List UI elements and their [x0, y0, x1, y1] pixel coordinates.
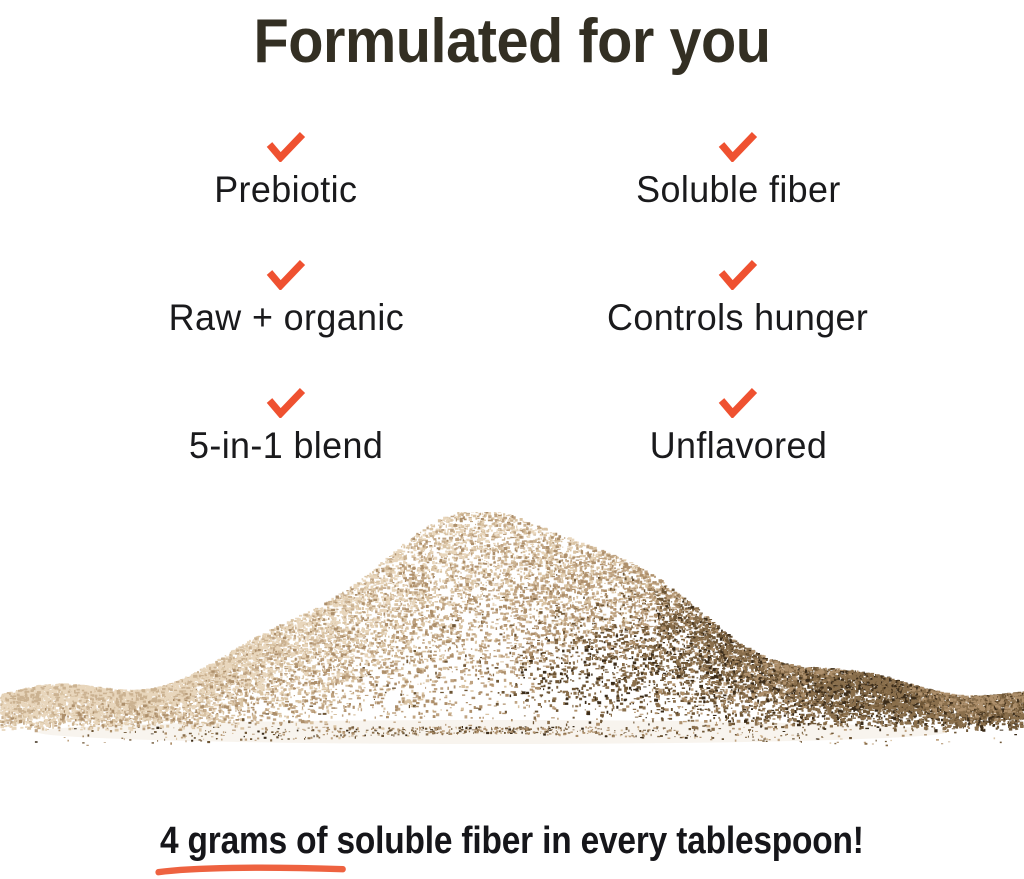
feature-item: Raw + organic [60, 260, 512, 388]
caption-highlight: 4 grams [160, 818, 287, 864]
infographic-page: Formulated for you Prebiotic Soluble fib… [0, 0, 1024, 879]
feature-label: Unflavored [649, 424, 826, 468]
caption-text: 4 grams of soluble fiber in every tables… [160, 818, 864, 864]
feature-grid: Prebiotic Soluble fiber Raw + organic Co… [60, 132, 964, 516]
feature-item: Unflavored [512, 388, 964, 516]
feature-label: Controls hunger [607, 296, 868, 340]
check-icon [266, 132, 306, 162]
check-icon [266, 388, 306, 418]
caption-rest-text: of soluble fiber in every tablespoon! [287, 820, 864, 862]
check-icon [718, 260, 758, 290]
powder-pile-image [0, 512, 1024, 787]
feature-label: Soluble fiber [636, 168, 841, 212]
page-title: Formulated for you [36, 8, 988, 76]
feature-item: 5-in-1 blend [60, 388, 512, 516]
feature-item: Soluble fiber [512, 132, 964, 260]
hand-drawn-underline-icon [155, 863, 352, 877]
caption-highlight-text: 4 grams [160, 820, 287, 862]
caption-row: 4 grams of soluble fiber in every tables… [0, 818, 1024, 864]
feature-item: Controls hunger [512, 260, 964, 388]
feature-label: Raw + organic [168, 296, 403, 340]
check-icon [266, 260, 306, 290]
feature-item: Prebiotic [60, 132, 512, 260]
feature-label: Prebiotic [214, 168, 357, 212]
powder-pile [0, 512, 1024, 787]
feature-label: 5-in-1 blend [189, 424, 383, 468]
check-icon [718, 132, 758, 162]
check-icon [718, 388, 758, 418]
